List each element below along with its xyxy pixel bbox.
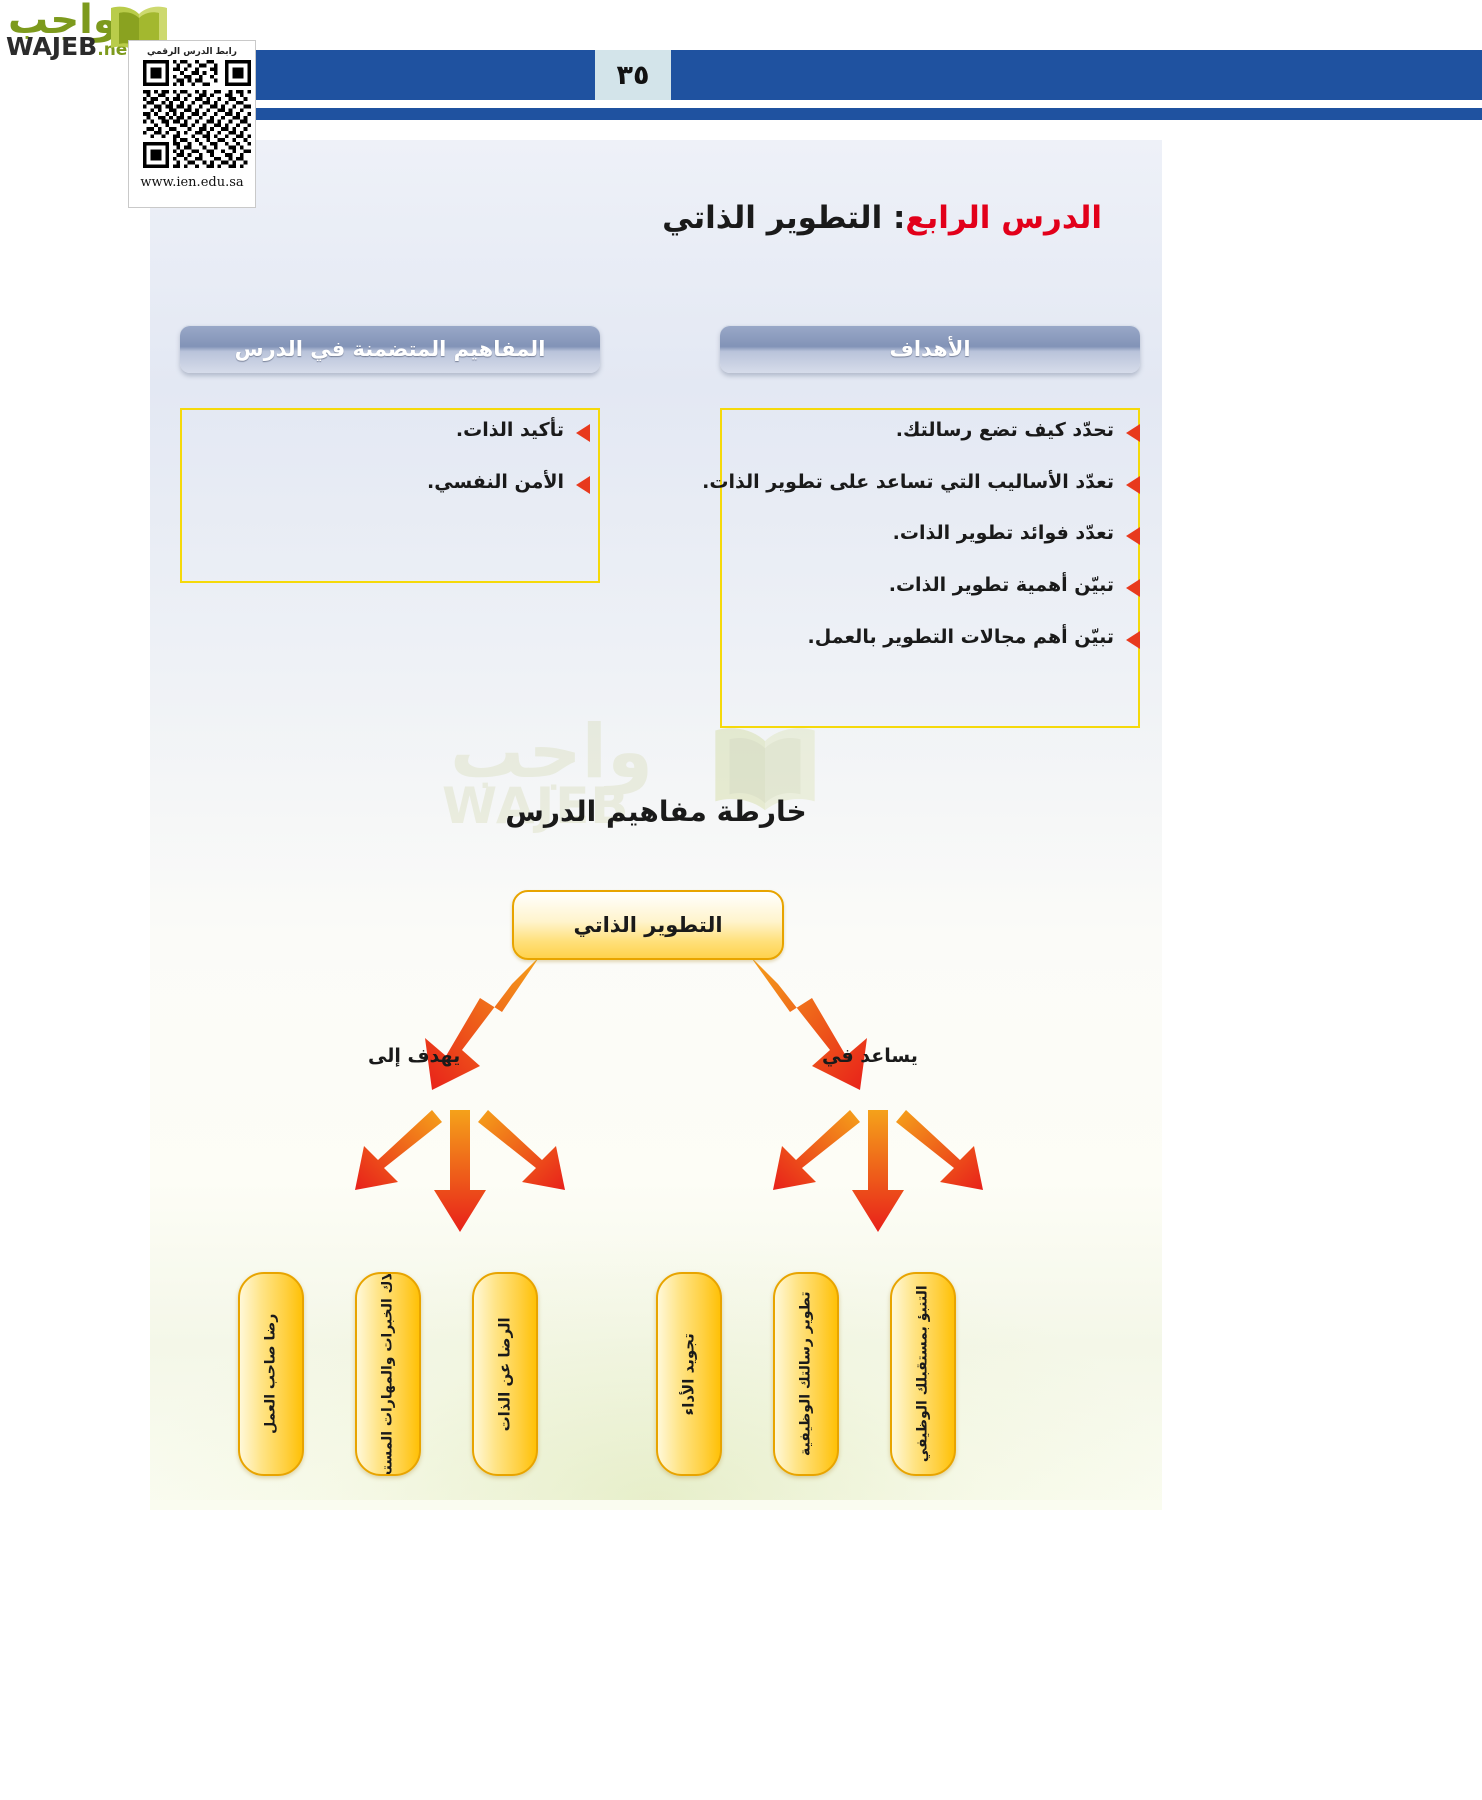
leaf-node-right-1: تجويد الأداء [656, 1272, 722, 1476]
objective-text: تبيّن أهمية تطوير الذات. [680, 573, 1114, 599]
leaf-label: امتلاك الخبرات والمهارات المستجدة [379, 1272, 397, 1476]
objectives-header-label: الأهداف [889, 337, 970, 361]
header-band [252, 50, 1482, 100]
leaf-label: الرضا عن الذات [496, 1317, 515, 1431]
concept-map-title: خارطة مفاهيم الدرس [150, 795, 1162, 828]
leaf-label: رضا صاحب العمل [262, 1314, 280, 1434]
list-item: تأكيد الذات. [130, 418, 590, 444]
edge-label-yusaid-fi: يساعد في [822, 1045, 918, 1067]
concept-text: الأمن النفسي. [130, 470, 564, 496]
triangle-bullet-icon [576, 476, 590, 494]
leaf-node-left-1: رضا صاحب العمل [238, 1272, 304, 1476]
qr-caption: رابط الدرس الرقمي [133, 47, 251, 57]
qr-code-image [143, 60, 251, 168]
objectives-list: تحدّد كيف تضع رسالتك. تعدّد الأساليب الت… [680, 418, 1140, 676]
lesson-prefix: الدرس الرابع [905, 200, 1102, 236]
leaf-node-left-2: امتلاك الخبرات والمهارات المستجدة [355, 1272, 421, 1476]
concept-map-root-node: التطوير الذاتي [512, 890, 784, 960]
concepts-list: تأكيد الذات. الأمن النفسي. [130, 418, 590, 521]
list-item: تعدّد فوائد تطوير الذات. [680, 521, 1140, 547]
lesson-separator: : [882, 200, 905, 236]
list-item: تحدّد كيف تضع رسالتك. [680, 418, 1140, 444]
concept-map: التطوير الذاتي يهدف إلى يساعد في رضا صاح… [150, 860, 1162, 1500]
objective-text: تعدّد فوائد تطوير الذات. [680, 521, 1114, 547]
objectives-header: الأهداف [720, 325, 1140, 373]
leaf-label: التنبؤ بمستقبلك الوظيفي [914, 1286, 932, 1463]
page-title: الدرس الرابع: التطوير الذاتي [662, 200, 1102, 236]
qr-url-label: www.ien.edu.sa [133, 175, 251, 190]
leaf-node-right-3: التنبؤ بمستقبلك الوظيفي [890, 1272, 956, 1476]
leaf-node-left-3: الرضا عن الذات [472, 1272, 538, 1476]
concept-text: تأكيد الذات. [130, 418, 564, 444]
page-number: ٣٥ [595, 50, 671, 100]
concepts-header-label: المفاهيم المتضمنة في الدرس [235, 337, 546, 361]
concepts-header: المفاهيم المتضمنة في الدرس [180, 325, 600, 373]
lesson-content-panel: الدرس الرابع: التطوير الذاتي الأهداف الم… [150, 140, 1162, 1510]
list-item: تبيّن أهمية تطوير الذات. [680, 573, 1140, 599]
leaf-node-right-2: تطوير رسالتك الوظيفية [773, 1272, 839, 1476]
list-item: الأمن النفسي. [130, 470, 590, 496]
list-item: تبيّن أهم مجالات التطوير بالعمل. [680, 625, 1140, 651]
header-band-thin [252, 108, 1482, 120]
watermark-arabic: واجب [450, 715, 653, 789]
logo-domain: WAJEB [6, 32, 97, 61]
triangle-bullet-icon [1126, 631, 1140, 649]
objective-text: تبيّن أهم مجالات التطوير بالعمل. [680, 625, 1114, 651]
digital-lesson-qr-card[interactable]: رابط الدرس الرقمي [128, 40, 256, 208]
list-item: تعدّد الأساليب التي تساعد على تطوير الذا… [680, 470, 1140, 496]
leaf-label: تجويد الأداء [680, 1333, 699, 1415]
objective-text: تعدّد الأساليب التي تساعد على تطوير الذا… [680, 470, 1114, 496]
triangle-bullet-icon [576, 424, 590, 442]
lesson-name: التطوير الذاتي [662, 200, 882, 236]
leaf-label: تطوير رسالتك الوظيفية [797, 1292, 815, 1457]
textbook-page: ٣٥ واجب WAJEB.net رابط الدرس الرقمي [0, 0, 1482, 1800]
triangle-bullet-icon [1126, 527, 1140, 545]
edge-label-yahdif-ila: يهدف إلى [368, 1045, 460, 1067]
triangle-bullet-icon [1126, 579, 1140, 597]
triangle-bullet-icon [1126, 424, 1140, 442]
objective-text: تحدّد كيف تضع رسالتك. [680, 418, 1114, 444]
triangle-bullet-icon [1126, 476, 1140, 494]
